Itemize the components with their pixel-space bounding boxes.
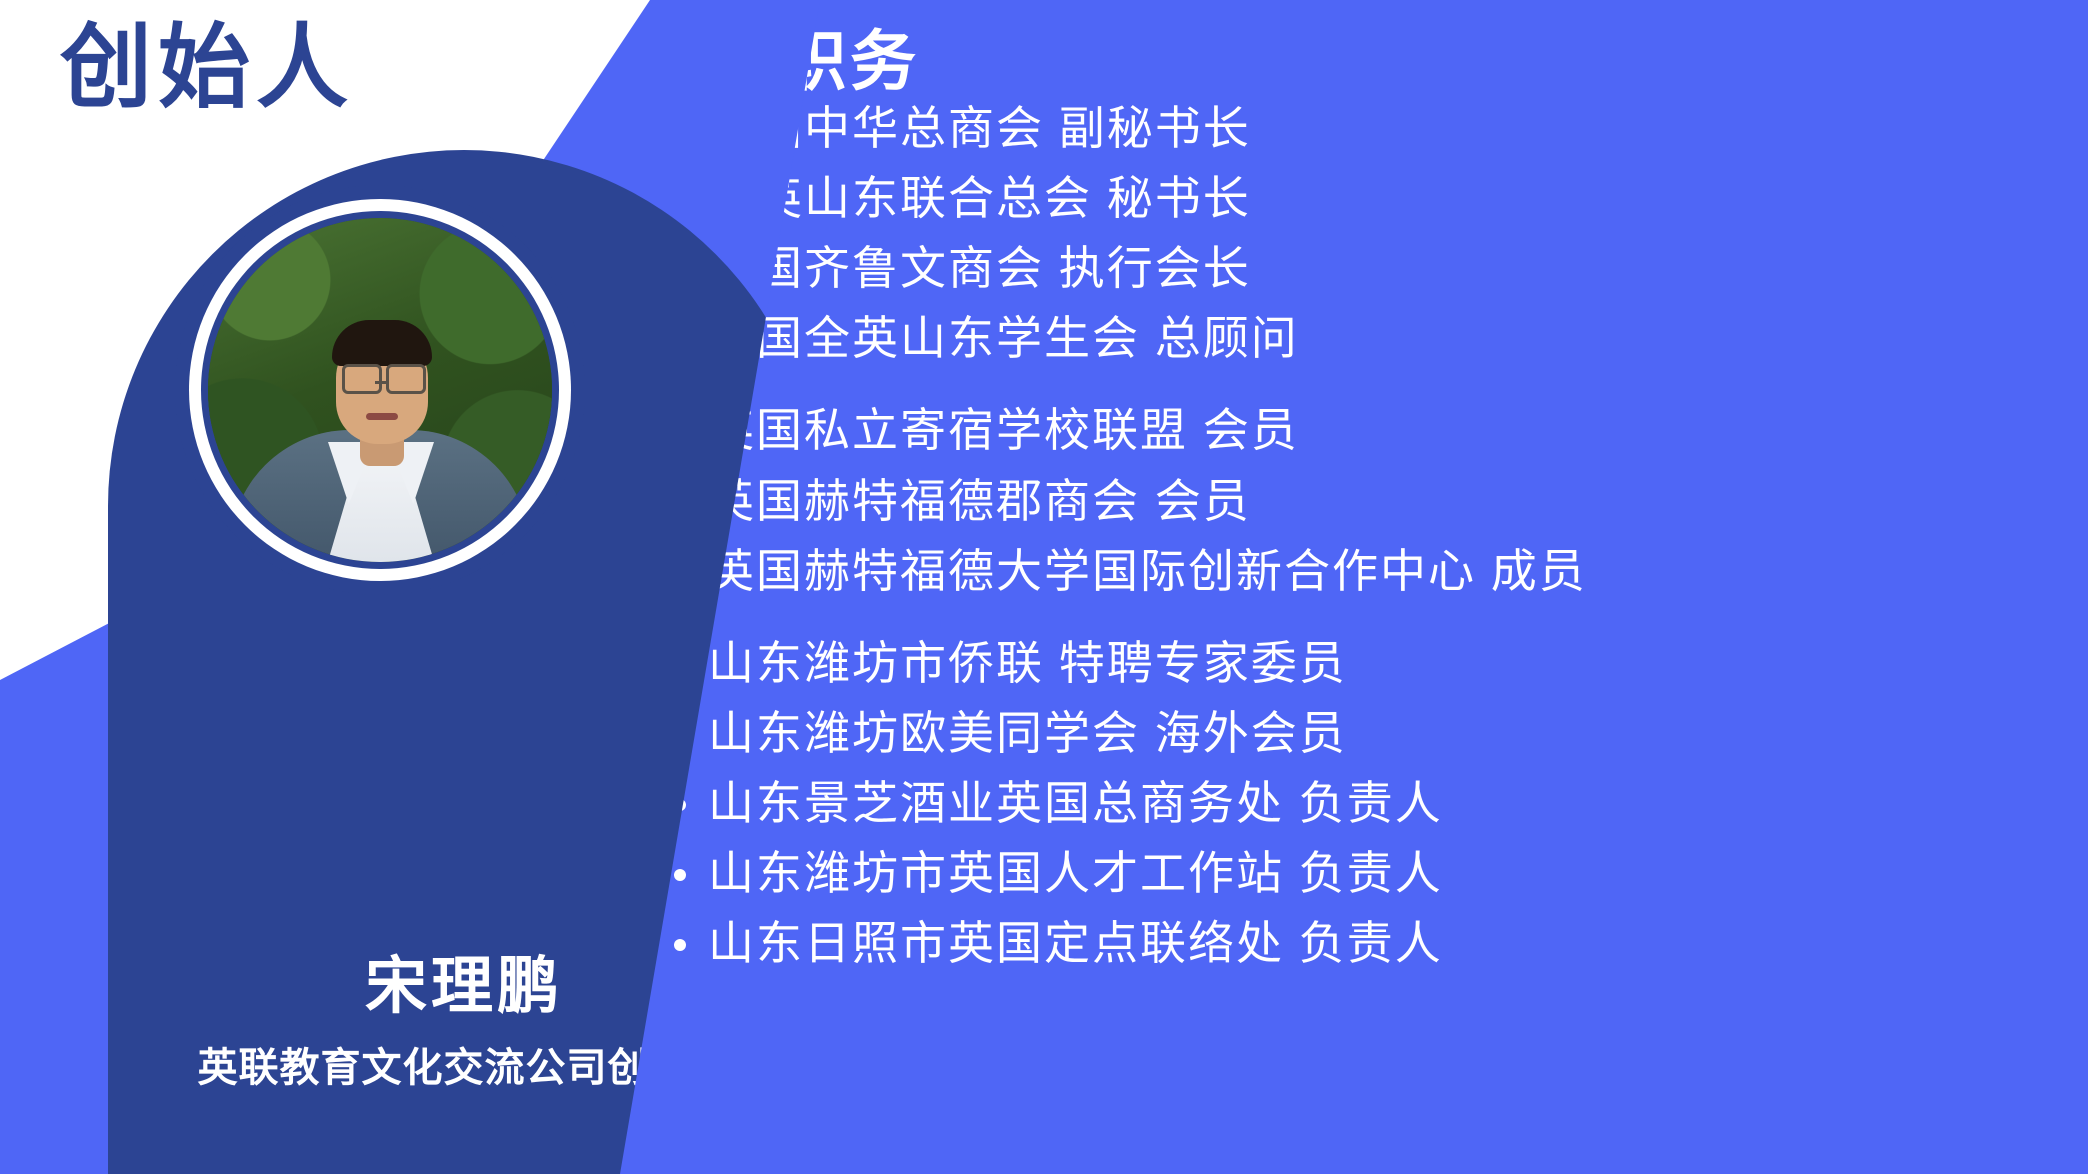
right-panel-content: 社会职务 英国中华总商会 副秘书长全英山东联合总会 秘书长英国齐鲁文商会 执行会… [620, 0, 2088, 1174]
right-panel: 社会职务 英国中华总商会 副秘书长全英山东联合总会 秘书长英国齐鲁文商会 执行会… [620, 0, 2088, 1174]
list-item: 山东潍坊市英国人才工作站 负责人 [660, 845, 2080, 901]
list-item: 英国赫特福德郡商会 会员 [660, 473, 2080, 529]
list-item: 山东景芝酒业英国总商务处 负责人 [660, 775, 2080, 831]
photo-hair [332, 320, 432, 366]
photo-glasses-left-lens [342, 364, 382, 394]
photo-glasses-bridge [375, 381, 387, 384]
founder-heading: 创始人 [60, 18, 354, 119]
positions-group: 英国私立寄宿学校联盟 会员英国赫特福德郡商会 会员英国赫特福德大学国际创新合作中… [660, 402, 2080, 598]
list-item: 英国全英山东学生会 总顾问 [660, 310, 2080, 366]
avatar [175, 185, 585, 595]
list-item: 全英山东联合总会 秘书长 [660, 170, 2080, 226]
positions-list: 英国中华总商会 副秘书长全英山东联合总会 秘书长英国齐鲁文商会 执行会长英国全英… [660, 100, 2080, 985]
list-item: 山东日照市英国定点联络处 负责人 [660, 915, 2080, 971]
photo-glasses-right-lens [386, 364, 426, 394]
avatar-photo [208, 218, 552, 562]
list-item: 英国赫特福德大学国际创新合作中心 成员 [660, 543, 2080, 599]
list-item: 英国中华总商会 副秘书长 [660, 100, 2080, 156]
list-item: 英国齐鲁文商会 执行会长 [660, 240, 2080, 296]
positions-group: 山东潍坊市侨联 特聘专家委员山东潍坊欧美同学会 海外会员山东景芝酒业英国总商务处… [660, 635, 2080, 972]
list-item: 山东潍坊市侨联 特聘专家委员 [660, 635, 2080, 691]
positions-group: 英国中华总商会 副秘书长全英山东联合总会 秘书长英国齐鲁文商会 执行会长英国全英… [660, 100, 2080, 366]
photo-mouth [366, 413, 398, 420]
slide-root: 创始人 宋理鹏 英联教育文化交流公司创始人 社 [0, 0, 2088, 1174]
list-item: 山东潍坊欧美同学会 海外会员 [660, 705, 2080, 761]
list-item: 英国私立寄宿学校联盟 会员 [660, 402, 2080, 458]
